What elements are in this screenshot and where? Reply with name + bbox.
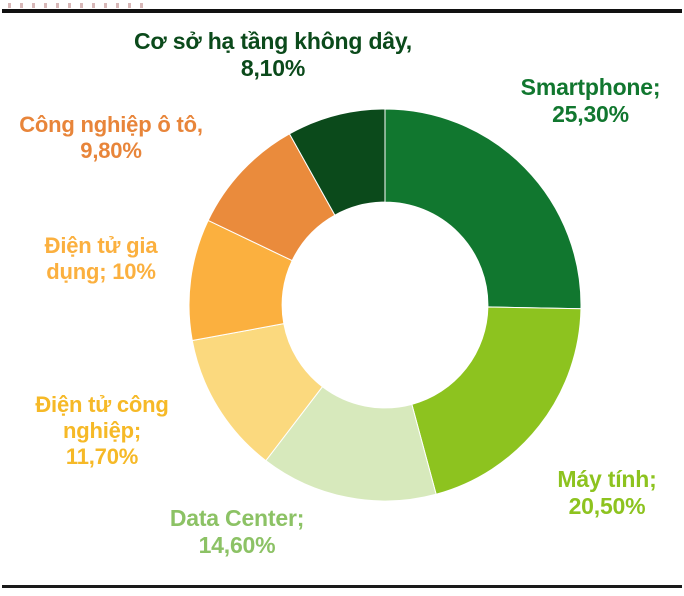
- chart-page: Cơ sở hạ tầng không dây, 8,10% Smartphon…: [0, 0, 684, 596]
- slice-label-smartphone: Smartphone; 25,30%: [497, 74, 684, 128]
- donut-chart-svg: [185, 105, 585, 505]
- donut-slice[interactable]: [385, 109, 581, 309]
- bottom-divider-rule: [2, 585, 682, 588]
- slice-label-consumer-electronics: Điện tử gia dụng; 10%: [6, 233, 196, 285]
- slice-label-computer: Máy tính; 20,50%: [530, 466, 684, 520]
- slice-label-industrial-electronics: Điện tử công nghiệp; 11,70%: [4, 392, 200, 470]
- decorative-dotted-strip: [8, 3, 148, 8]
- top-divider-rule: [2, 9, 682, 13]
- slice-label-automotive-industry: Công nghiệp ô tô, 9,80%: [6, 112, 216, 164]
- donut-chart: [185, 105, 585, 505]
- donut-slice-group: [189, 109, 581, 501]
- slice-label-wireless-infrastructure: Cơ sở hạ tầng không dây, 8,10%: [118, 28, 428, 82]
- slice-label-data-center: Data Center; 14,60%: [132, 505, 342, 559]
